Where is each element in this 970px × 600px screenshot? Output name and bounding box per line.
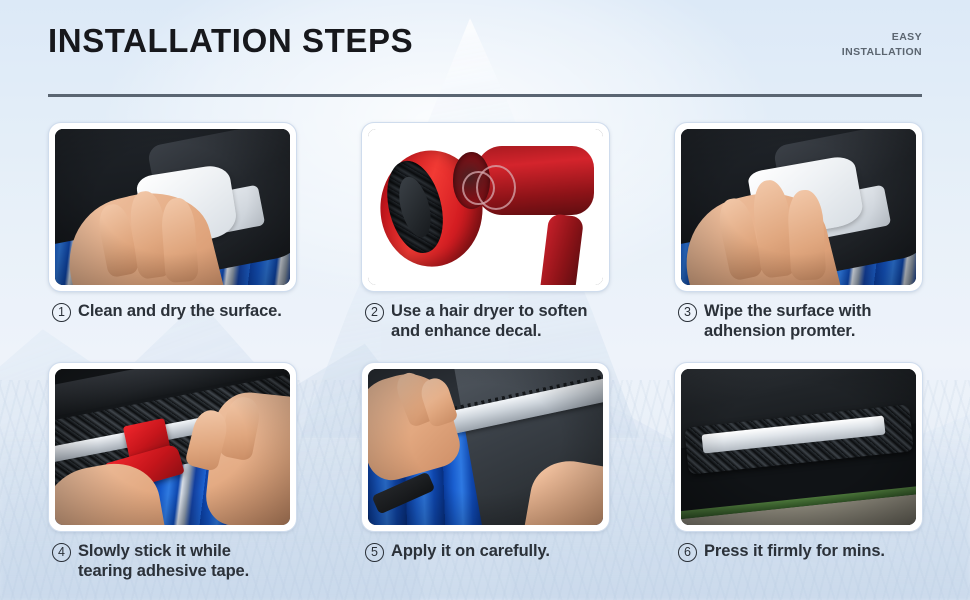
step-text-6: Press it firmly for mins. (704, 541, 885, 561)
header-divider (48, 94, 922, 97)
step-text-line-2: tearing adhesive tape. (78, 562, 249, 580)
photo-vignette (55, 369, 290, 525)
step-number-2: 2 (365, 303, 384, 322)
tagline-line-1: EASY (842, 30, 922, 45)
step-photo-5 (368, 369, 603, 525)
step-number-1: 1 (52, 303, 71, 322)
step-card-1: 1 Clean and dry the surface. (48, 122, 302, 362)
step-text-1: Clean and dry the surface. (78, 301, 282, 321)
step-text-line-1: Wipe the surface with (704, 302, 871, 320)
step-photo-frame-6 (674, 362, 923, 532)
step-caption-5: 5 Apply it on carefully. (361, 541, 615, 562)
car-sill-scene (55, 129, 290, 285)
step-card-3: 3 Wipe the surface with adhension promte… (674, 122, 928, 362)
steps-grid: 1 Clean and dry the surface. (48, 122, 928, 600)
hair-dryer-scene (368, 129, 603, 285)
step-number-4: 4 (52, 543, 71, 562)
car-sill-scene (681, 129, 916, 285)
step-text-2: Use a hair dryer to soften and enhance d… (391, 301, 587, 341)
step-photo-3 (681, 129, 916, 285)
step-text-line-2: and enhance decal. (391, 322, 541, 340)
step-caption-2: 2 Use a hair dryer to soften and enhance… (361, 301, 615, 341)
step-text-line-1: Slowly stick it while (78, 542, 231, 560)
step-caption-3: 3 Wipe the surface with adhension promte… (674, 301, 928, 341)
photo-vignette (55, 129, 290, 285)
step-text-line-2: adhension promter. (704, 322, 855, 340)
step-card-5: 5 Apply it on carefully. (361, 362, 615, 600)
step-photo-frame-2 (361, 122, 610, 292)
step-photo-2 (368, 129, 603, 285)
step-card-6: 6 Press it firmly for mins. (674, 362, 928, 600)
step-number-3: 3 (678, 303, 697, 322)
step-photo-frame-3 (674, 122, 923, 292)
step-photo-frame-4 (48, 362, 297, 532)
step-card-2: 2 Use a hair dryer to soften and enhance… (361, 122, 615, 362)
step-caption-4: 4 Slowly stick it while tearing adhesive… (48, 541, 302, 581)
step-photo-6 (681, 369, 916, 525)
step-text-line-1: Press it firmly for mins. (704, 542, 885, 560)
hair-dryer-handle (539, 213, 584, 285)
carbon-strip-scene (55, 369, 290, 525)
tagline: EASY INSTALLATION (842, 30, 922, 60)
step-text-5: Apply it on carefully. (391, 541, 550, 561)
step-photo-frame-1 (48, 122, 297, 292)
tagline-line-2: INSTALLATION (842, 45, 922, 60)
finished-sill-scene (681, 369, 916, 525)
step-caption-1: 1 Clean and dry the surface. (48, 301, 302, 322)
step-text-line-1: Apply it on carefully. (391, 542, 550, 560)
apply-strip-scene (368, 369, 603, 525)
step-text-line-1: Clean and dry the surface. (78, 302, 282, 320)
heat-wave-icon (476, 165, 516, 210)
photo-vignette (368, 369, 603, 525)
step-number-5: 5 (365, 543, 384, 562)
step-photo-frame-5 (361, 362, 610, 532)
step-photo-4 (55, 369, 290, 525)
step-number-6: 6 (678, 543, 697, 562)
step-caption-6: 6 Press it firmly for mins. (674, 541, 928, 562)
step-text-line-1: Use a hair dryer to soften (391, 302, 587, 320)
step-card-4: 4 Slowly stick it while tearing adhesive… (48, 362, 302, 600)
photo-vignette (681, 369, 916, 525)
step-photo-1 (55, 129, 290, 285)
installation-steps-page: INSTALLATION STEPS EASY INSTALLATION (0, 0, 970, 600)
step-text-4: Slowly stick it while tearing adhesive t… (78, 541, 249, 581)
step-text-3: Wipe the surface with adhension promter. (704, 301, 871, 341)
photo-vignette (681, 129, 916, 285)
page-title: INSTALLATION STEPS (48, 22, 413, 60)
page-header: INSTALLATION STEPS EASY INSTALLATION (0, 0, 970, 110)
